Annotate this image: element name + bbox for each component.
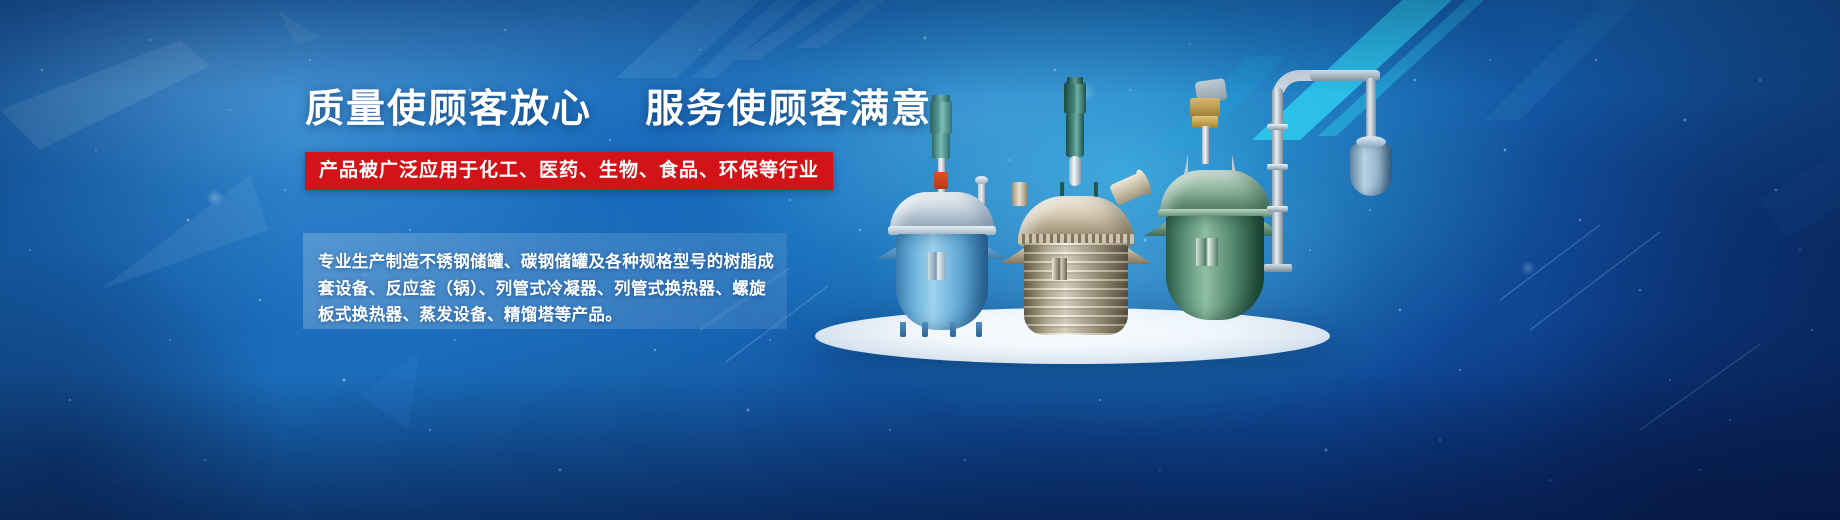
reactor-motor-stand <box>1184 128 1236 174</box>
application-ribbon-text: 产品被广泛应用于化工、医药、生物、食品、环保等行业 <box>319 159 819 181</box>
reactor-nozzle-left-icon <box>1012 182 1028 206</box>
reactor-sight-glass <box>1196 238 1218 266</box>
ray-streak-left <box>0 40 210 150</box>
triangle-shape-lowleft <box>360 350 420 430</box>
page-title: 质量使顾客放心 服务使顾客满意 <box>305 88 825 133</box>
reactor-legs <box>898 322 986 338</box>
reactor-motor-icon <box>930 100 952 134</box>
stainless-steel-reactor-vessel <box>1008 82 1144 332</box>
diagonal-streaks-top <box>616 0 886 78</box>
pipe-support-ring <box>1267 206 1288 212</box>
reactor-gearbox-icon <box>932 133 950 159</box>
reactor-drive-column <box>1066 113 1084 157</box>
reactor-jacketed-body <box>1024 243 1128 335</box>
headline-left-text: 质量使顾客放心 <box>305 87 592 132</box>
description-text: 专业生产制造不锈钢储罐、碳钢储罐及各种规格型号的树脂成套设备、反应釜（锅）、列管… <box>318 249 778 329</box>
reactor-sight-glass <box>928 252 946 280</box>
condenser-vessel <box>1350 144 1392 196</box>
pipe-support-ring <box>1267 124 1288 130</box>
reactor-nozzle-right-icon <box>1109 172 1149 206</box>
headline-right-text: 服务使顾客满意 <box>645 87 932 132</box>
reactor-sight-glass <box>1052 258 1067 280</box>
application-ribbon: 产品被广泛应用于化工、医药、生物、食品、环保等行业 <box>305 152 833 190</box>
reactor-gearbox-icon <box>1190 98 1220 118</box>
pipe-base-plate <box>1264 264 1292 272</box>
reactor-red-valve-icon <box>934 172 948 189</box>
triangle-shape-topleft <box>278 10 320 45</box>
blue-reactor-vessel <box>882 100 1002 330</box>
green-reactor-vessel <box>1152 70 1278 332</box>
reactor-body <box>1166 216 1264 320</box>
pipe-vertical-riser <box>1272 88 1283 268</box>
triangle-shape-left <box>100 175 268 290</box>
reactor-shaft-icon <box>1202 126 1209 164</box>
reactor-body <box>896 234 988 330</box>
condenser-piping-assembly <box>1262 60 1382 310</box>
hero-banner: 质量使顾客放心 服务使顾客满意 产品被广泛应用于化工、医药、生物、食品、环保等行… <box>0 0 1840 520</box>
pipe-support-ring <box>1267 164 1288 170</box>
triangle-shape-bottom <box>120 440 210 505</box>
reactor-motor-icon <box>1064 82 1086 114</box>
diagonal-streaks-right <box>1484 0 1840 240</box>
headline-block: 质量使顾客放心 服务使顾客满意 <box>305 88 825 133</box>
